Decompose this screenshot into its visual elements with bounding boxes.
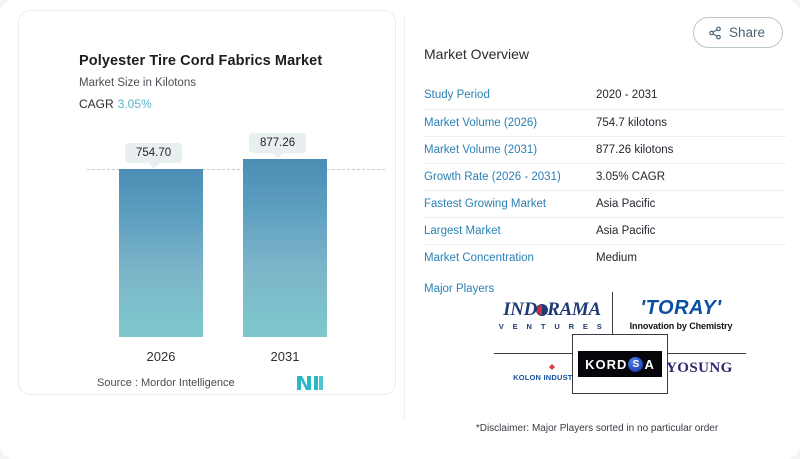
major-players-label: Major Players bbox=[424, 283, 494, 295]
bar-value-label-2031: 877.26 bbox=[249, 133, 306, 153]
share-label: Share bbox=[729, 25, 765, 40]
row-key: Study Period bbox=[424, 82, 596, 109]
kordsa-badge: KORD S A bbox=[578, 351, 662, 377]
logo-indorama-wordmark: INDRAMA bbox=[496, 300, 608, 319]
logo-indorama: INDRAMA V E N T U R E S bbox=[496, 300, 608, 331]
row-key: Largest Market bbox=[424, 217, 596, 244]
table-row: Market Volume (2026) 754.7 kilotons bbox=[424, 109, 786, 136]
disclaimer-text: *Disclaimer: Major Players sorted in no … bbox=[424, 423, 770, 434]
bar-chart-plot: 754.70 877.26 2026 2031 bbox=[19, 11, 397, 396]
logo-kordsa: KORD S A bbox=[572, 334, 668, 394]
row-key: Market Concentration bbox=[424, 244, 596, 271]
chart-source: Source : Mordor Intelligence bbox=[97, 377, 235, 389]
logo-indorama-tagline: V E N T U R E S bbox=[496, 322, 608, 331]
row-value: Medium bbox=[596, 244, 786, 271]
x-axis-tick-2031: 2031 bbox=[243, 349, 327, 364]
table-row: Fastest Growing Market Asia Pacific bbox=[424, 190, 786, 217]
share-button[interactable]: Share bbox=[693, 17, 783, 48]
row-value: Asia Pacific bbox=[596, 190, 786, 217]
table-row: Study Period 2020 - 2031 bbox=[424, 82, 786, 109]
row-value: 877.26 kilotons bbox=[596, 136, 786, 163]
logo-toray-wordmark: 'TORAY' bbox=[622, 298, 740, 319]
kordsa-pre: KORD bbox=[585, 357, 627, 372]
row-value: Asia Pacific bbox=[596, 217, 786, 244]
kolon-diamond-icon bbox=[549, 364, 555, 370]
row-value: 3.05% CAGR bbox=[596, 163, 786, 190]
chart-card: Polyester Tire Cord Fabrics Market Marke… bbox=[18, 10, 396, 395]
row-key: Fastest Growing Market bbox=[424, 190, 596, 217]
overview-title: Market Overview bbox=[424, 46, 529, 62]
mordor-intelligence-logo-icon bbox=[296, 375, 324, 391]
table-row: Market Volume (2031) 877.26 kilotons bbox=[424, 136, 786, 163]
share-nodes-icon bbox=[708, 26, 722, 40]
kordsa-circle-icon: S bbox=[628, 357, 643, 372]
bar-2031[interactable] bbox=[243, 159, 327, 337]
major-players-logo-grid: INDRAMA V E N T U R E S 'TORAY' Innovati… bbox=[494, 292, 746, 394]
bar-value-label-2026: 754.70 bbox=[125, 143, 182, 163]
indorama-ring-icon bbox=[536, 304, 548, 316]
logo-toray: 'TORAY' Innovation by Chemistry bbox=[622, 298, 740, 331]
table-row: Largest Market Asia Pacific bbox=[424, 217, 786, 244]
logo-toray-tagline: Innovation by Chemistry bbox=[622, 321, 740, 331]
table-row: Growth Rate (2026 - 2031) 3.05% CAGR bbox=[424, 163, 786, 190]
x-axis-tick-2026: 2026 bbox=[119, 349, 203, 364]
bar-2026[interactable] bbox=[119, 169, 203, 337]
row-key: Market Volume (2031) bbox=[424, 136, 596, 163]
report-card: Share Polyester Tire Cord Fabrics Market… bbox=[0, 0, 800, 459]
row-key: Market Volume (2026) bbox=[424, 109, 596, 136]
table-row: Market Concentration Medium bbox=[424, 244, 786, 271]
kordsa-post: A bbox=[644, 357, 654, 372]
row-value: 754.7 kilotons bbox=[596, 109, 786, 136]
row-key: Growth Rate (2026 - 2031) bbox=[424, 163, 596, 190]
row-value: 2020 - 2031 bbox=[596, 82, 786, 109]
market-overview-table: Study Period 2020 - 2031 Market Volume (… bbox=[424, 82, 786, 271]
panel-divider bbox=[404, 14, 405, 420]
